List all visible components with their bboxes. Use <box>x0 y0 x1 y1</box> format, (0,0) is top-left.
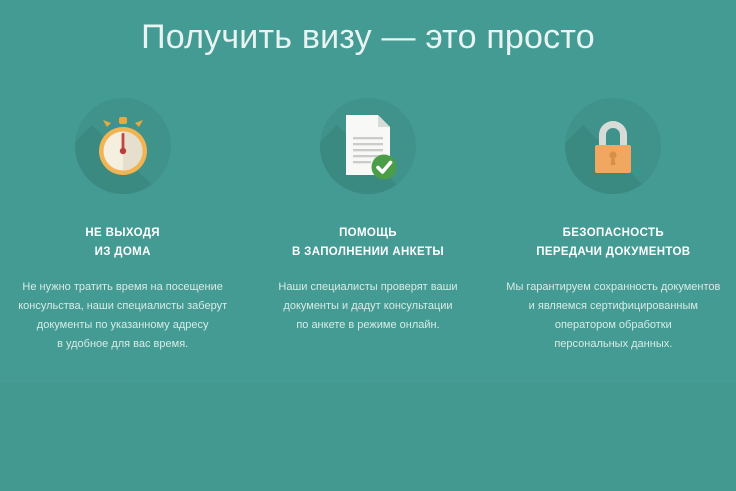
background-lower-band <box>0 383 736 491</box>
feature-body-line: оператором обработки <box>506 316 720 335</box>
feature-heading-line: ИЗ ДОМА <box>85 243 160 262</box>
feature-body-line: и являемся сертифицированным <box>506 297 720 316</box>
feature-body-1: Не нужно тратить время на посещение конс… <box>18 278 227 354</box>
feature-heading-1: НЕ ВЫХОДЯ ИЗ ДОМА <box>85 224 160 262</box>
feature-heading-line: В ЗАПОЛНЕНИИ АНКЕТЫ <box>292 243 444 262</box>
feature-column-2: ПОМОЩЬ В ЗАПОЛНЕНИИ АНКЕТЫ Наши специали… <box>245 98 490 335</box>
feature-body-line: Наши специалисты проверят ваши <box>278 278 457 297</box>
features-row: НЕ ВЫХОДЯ ИЗ ДОМА Не нужно тратить время… <box>0 98 736 354</box>
feature-body-line: документы по указанному адресу <box>18 316 227 335</box>
document-check-icon <box>320 98 416 194</box>
feature-heading-line: ПОМОЩЬ <box>292 224 444 243</box>
feature-heading-line: НЕ ВЫХОДЯ <box>85 224 160 243</box>
feature-column-3: БЕЗОПАСНОСТЬ ПЕРЕДАЧИ ДОКУМЕНТОВ Мы гара… <box>491 98 736 354</box>
feature-body-line: Не нужно тратить время на посещение <box>18 278 227 297</box>
feature-body-line: Мы гарантируем сохранность документов <box>506 278 720 297</box>
feature-heading-2: ПОМОЩЬ В ЗАПОЛНЕНИИ АНКЕТЫ <box>292 224 444 262</box>
feature-body-2: Наши специалисты проверят ваши документы… <box>278 278 457 335</box>
feature-body-line: в удобное для вас время. <box>18 335 227 354</box>
feature-body-line: консульства, наши специалисты заберут <box>18 297 227 316</box>
feature-body-3: Мы гарантируем сохранность документов и … <box>506 278 720 354</box>
feature-column-1: НЕ ВЫХОДЯ ИЗ ДОМА Не нужно тратить время… <box>0 98 245 354</box>
stopwatch-icon <box>75 98 171 194</box>
feature-body-line: персональных данных. <box>506 335 720 354</box>
feature-heading-line: ПЕРЕДАЧИ ДОКУМЕНТОВ <box>536 243 690 262</box>
padlock-icon-wrapper <box>565 98 661 194</box>
page-title: Получить визу — это просто <box>0 18 736 57</box>
feature-body-line: документы и дадут консультации <box>278 297 457 316</box>
feature-body-line: по анкете в режиме онлайн. <box>278 316 457 335</box>
document-check-icon-wrapper <box>320 98 416 194</box>
stopwatch-icon-wrapper <box>75 98 171 194</box>
feature-heading-line: БЕЗОПАСНОСТЬ <box>536 224 690 243</box>
feature-heading-3: БЕЗОПАСНОСТЬ ПЕРЕДАЧИ ДОКУМЕНТОВ <box>536 224 690 262</box>
padlock-icon <box>565 98 661 194</box>
